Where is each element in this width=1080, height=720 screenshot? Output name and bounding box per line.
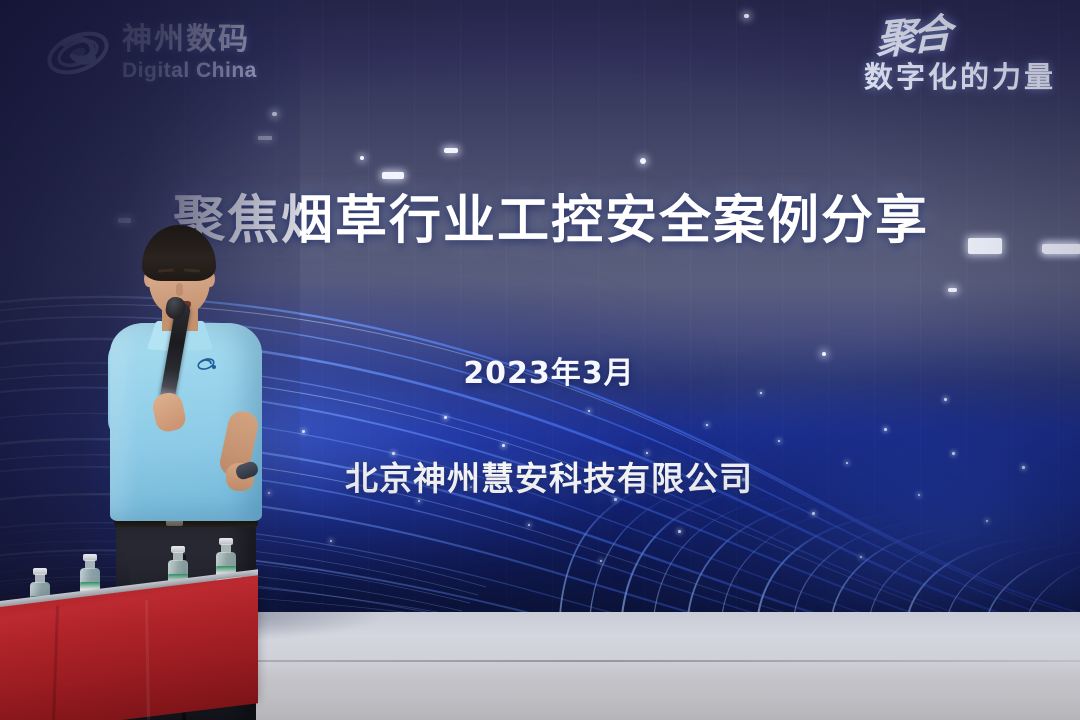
brand-name-cn: 神州数码	[122, 25, 257, 55]
digital-china-swirl-icon	[44, 22, 112, 84]
presenter-eye-left	[160, 276, 173, 281]
event-slogan-block: 聚合 数字化的力量	[864, 18, 1056, 96]
conference-photo: 神州数码 Digital China 聚合 数字化的力量 聚焦烟草行业工控安全案…	[0, 0, 1080, 720]
presenter-hair	[142, 225, 216, 281]
presenter-nose	[176, 283, 183, 296]
brand-logo-block: 神州数码 Digital China	[44, 22, 257, 84]
brand-name-en: Digital China	[122, 60, 257, 81]
presenter	[96, 225, 286, 615]
foreground-head-table	[0, 560, 300, 720]
presenter-eye-right	[186, 276, 199, 281]
screen-accent-bar-small	[258, 136, 272, 140]
slogan-brush-text: 聚合	[864, 13, 948, 62]
company-badge-icon	[196, 355, 220, 373]
